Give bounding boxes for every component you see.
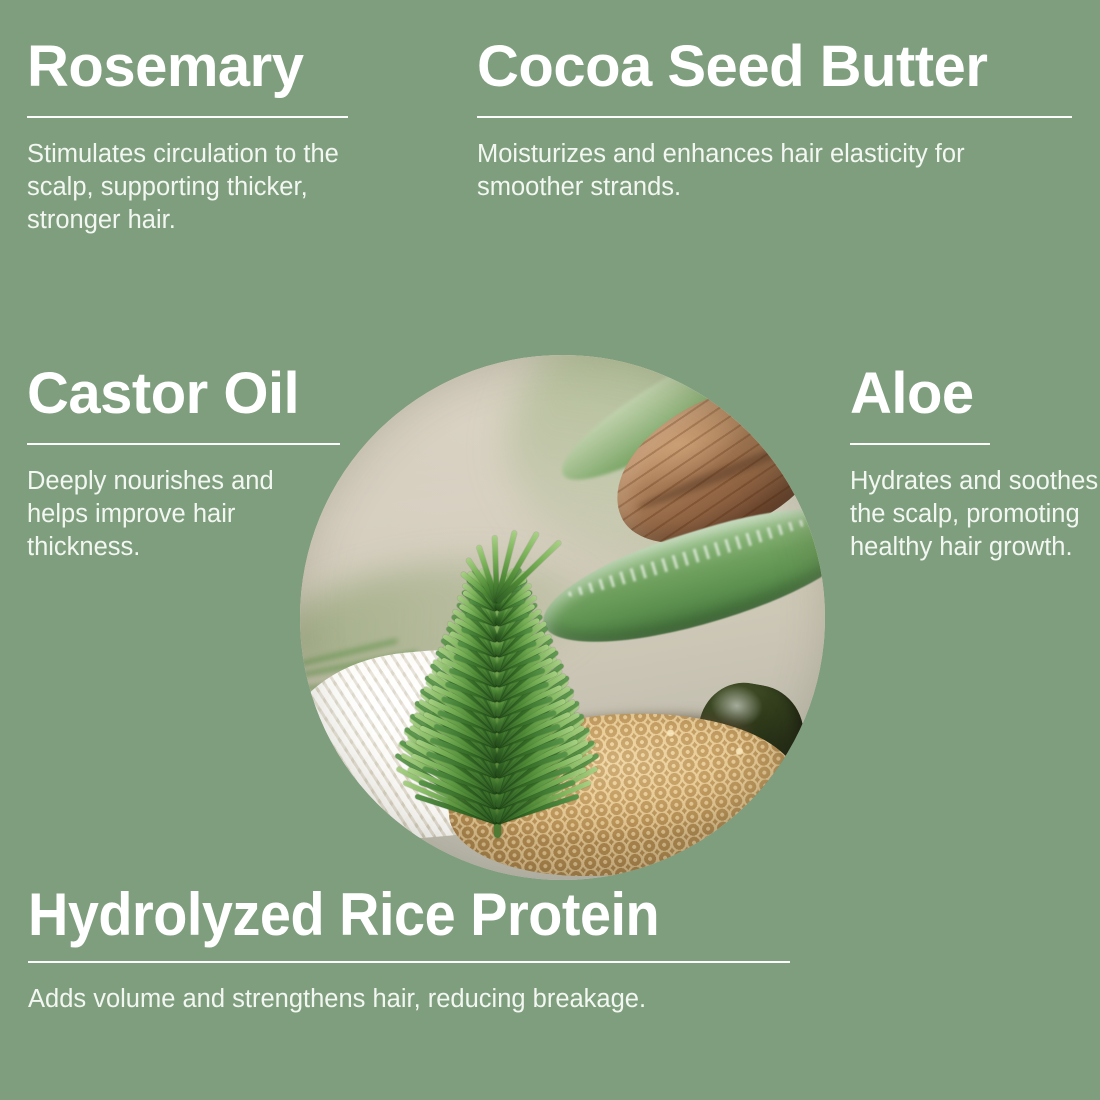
heading-underline-aloe — [850, 443, 990, 445]
heading-underline-cocoa-seed-butter — [477, 116, 1072, 118]
ingredient-description-aloe: Hydrates and soothes the scalp, promotin… — [850, 465, 1100, 564]
ingredient-card-aloe: Aloe Hydrates and soothes the scalp, pro… — [850, 365, 990, 564]
ingredients-infographic: Rosemary Stimulates circulation to the s… — [0, 0, 1100, 1100]
ingredient-card-rosemary: Rosemary Stimulates circulation to the s… — [27, 38, 348, 237]
ingredient-heading-cocoa-seed-butter: Cocoa Seed Butter — [477, 38, 1072, 96]
ingredient-card-hydrolyzed-rice-protein: Hydrolyzed Rice Protein Adds volume and … — [28, 885, 790, 1016]
ingredient-heading-aloe: Aloe — [850, 365, 990, 423]
ingredient-description-castor-oil: Deeply nourishes and helps improve hair … — [27, 465, 297, 564]
ingredient-description-cocoa-seed-butter: Moisturizes and enhances hair elasticity… — [477, 138, 1057, 204]
photo-scene — [300, 355, 825, 880]
ingredient-heading-rosemary: Rosemary — [27, 38, 348, 96]
ingredient-card-cocoa-seed-butter: Cocoa Seed Butter Moisturizes and enhanc… — [477, 38, 1072, 204]
ingredient-heading-castor-oil: Castor Oil — [27, 365, 340, 423]
heading-underline-hydrolyzed-rice-protein — [28, 961, 790, 963]
rosemary-sprig-icon — [352, 508, 682, 838]
ingredient-description-rosemary: Stimulates circulation to the scalp, sup… — [27, 138, 357, 237]
heading-underline-rosemary — [27, 116, 348, 118]
ingredient-heading-hydrolyzed-rice-protein: Hydrolyzed Rice Protein — [28, 885, 737, 945]
ingredient-card-castor-oil: Castor Oil Deeply nourishes and helps im… — [27, 365, 340, 564]
heading-underline-castor-oil — [27, 443, 340, 445]
ingredients-photo-circle — [300, 355, 825, 880]
ingredient-description-hydrolyzed-rice-protein: Adds volume and strengthens hair, reduci… — [28, 983, 788, 1016]
